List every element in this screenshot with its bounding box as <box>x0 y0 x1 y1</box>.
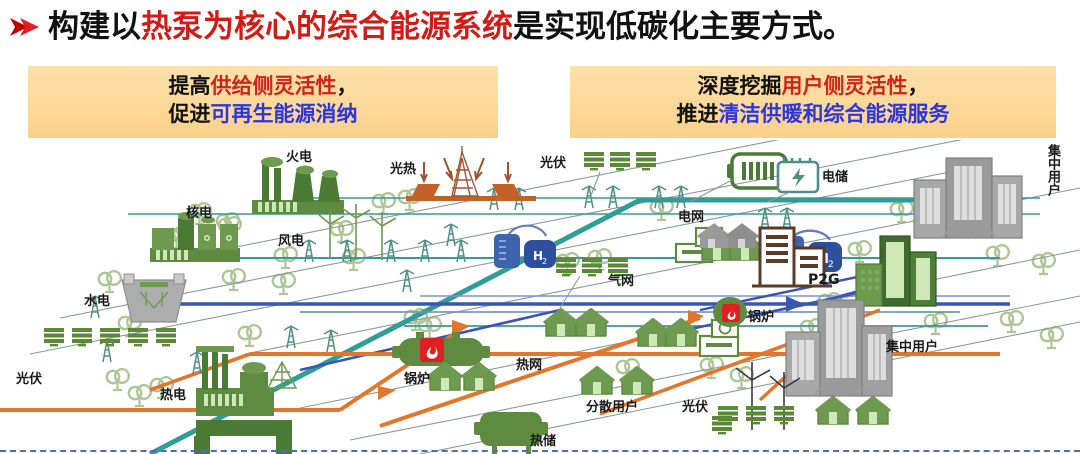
banner-right-line1: 深度挖掘用户侧灵活性， <box>578 72 1048 100</box>
label-power-grid: 电网 <box>678 206 704 225</box>
double-chevron-icon <box>8 12 42 42</box>
gas-arrowheads <box>786 296 804 312</box>
label-distributed-users: 分散用户 <box>586 396 638 415</box>
banner-left-line2: 促进可再生能源消纳 <box>36 100 490 128</box>
label-p2g: P2G <box>808 272 840 288</box>
title-part-1: 构建以 <box>48 9 141 45</box>
battery-box-icon <box>768 158 818 202</box>
banner-left-line1: 提高供给侧灵活性， <box>36 72 490 100</box>
banner-left-line2-pre: 促进 <box>169 102 211 126</box>
banner-demand-side: 深度挖掘用户侧灵活性， 推进清洁供暖和综合能源服务 <box>570 66 1056 138</box>
bottom-divider <box>0 450 1080 452</box>
building-icon-green-cluster <box>856 236 936 306</box>
title-part-highlight: 热泵为核心的综合能源系统 <box>141 9 513 45</box>
label-gas-grid: 气网 <box>608 270 634 289</box>
hydrogen-tank-icon-left: H 2 <box>494 226 556 268</box>
label-central-users-far: 集中用户 <box>1044 144 1060 196</box>
banner-right-line2-pre: 推进 <box>677 102 719 126</box>
banner-right-line1-pre: 深度挖掘 <box>698 74 782 98</box>
dam-icon <box>122 274 186 322</box>
solar-tower-icon <box>406 146 536 201</box>
label-hydro-power: 水电 <box>84 290 110 309</box>
solar-panel-icon-bottom <box>712 416 732 434</box>
solar-panel-icon-mid <box>584 152 656 198</box>
banner-left-line1-highlight: 供给侧灵活性 <box>211 74 337 98</box>
chp-plant-icon <box>194 346 296 454</box>
solar-panel-icon-left <box>44 328 176 346</box>
label-pv-right: 光伏 <box>682 396 708 415</box>
label-central-users-right: 集中用户 <box>886 336 938 355</box>
banner-supply-side: 提高供给侧灵活性， 促进可再生能源消纳 <box>28 66 498 138</box>
battery-icon <box>690 154 786 202</box>
thermal-plant-icon <box>252 157 344 214</box>
label-solar-thermal: 光热 <box>390 158 416 177</box>
label-pv-mid: 光伏 <box>540 152 566 171</box>
banner-left-line1-pre: 提高 <box>169 74 211 98</box>
banner-right-line1-highlight: 用户侧灵活性 <box>782 74 908 98</box>
label-wind-power: 风电 <box>278 230 304 249</box>
label-thermal-power: 火电 <box>286 146 312 165</box>
banner-left-line2-highlight: 可再生能源消纳 <box>211 102 358 126</box>
energy-system-diagram: H 2 H 2 <box>0 140 1080 454</box>
banner-right-line2-highlight: 清洁供暖和综合能源服务 <box>719 102 950 126</box>
building-icon-grey-cluster <box>914 158 1022 238</box>
label-nuclear-power: 核电 <box>186 202 212 221</box>
banner-right-line2: 推进清洁供暖和综合能源服务 <box>578 100 1048 128</box>
label-boiler-left: 锅炉 <box>404 368 430 387</box>
building-icon-grey-tall <box>786 300 892 396</box>
boiler-tank-icon-right <box>713 297 747 327</box>
diagram-canvas: H 2 H 2 <box>0 140 1080 454</box>
label-pv-left: 光伏 <box>16 368 42 387</box>
label-elec-storage: 电储 <box>822 166 848 185</box>
banner-right-line1-post: ， <box>908 74 929 98</box>
svg-text:2: 2 <box>542 257 547 266</box>
label-chp: 热电 <box>160 384 186 403</box>
label-heat-storage: 热储 <box>530 430 556 449</box>
label-heat-grid: 热网 <box>516 354 542 373</box>
banner-left-line1-post: ， <box>337 74 358 98</box>
label-boiler-right: 锅炉 <box>748 306 774 325</box>
slide-title-bar: 构建以热泵为核心的综合能源系统是实现低碳化主要方式。 <box>0 0 1080 54</box>
svg-text:2: 2 <box>828 260 834 270</box>
house-icon-grey-pair <box>698 225 758 248</box>
title-part-3: 是实现低碳化主要方式。 <box>513 9 854 45</box>
page-title: 构建以热泵为核心的综合能源系统是实现低碳化主要方式。 <box>48 10 854 44</box>
